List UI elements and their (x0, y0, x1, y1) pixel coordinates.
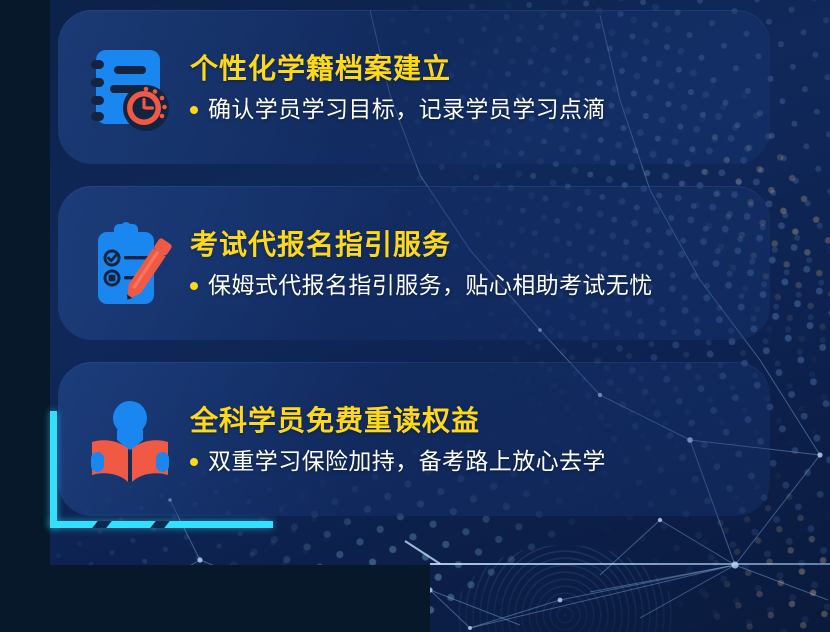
benefit-text-2: 考试代报名指引服务 保姆式代报名指引服务，贴心相助考试无忧 (178, 228, 653, 300)
benefit-card-list: 个性化学籍档案建立 确认学员学习目标，记录学员学习点滴 (50, 0, 830, 566)
benefit-text-1: 个性化学籍档案建立 确认学员学习目标，记录学员学习点滴 (178, 52, 606, 124)
benefit-text-3: 全科学员免费重读权益 双重学习保险加持，备考路上放心去学 (178, 404, 606, 476)
bottom-dark-band (0, 565, 430, 632)
benefit-description-3: 双重学习保险加持，备考路上放心去学 (190, 448, 606, 476)
bullet-icon (190, 458, 198, 466)
benefit-description-2: 保姆式代报名指引服务，贴心相助考试无忧 (190, 272, 653, 300)
left-dark-gutter (0, 0, 50, 632)
benefit-description-1: 确认学员学习目标，记录学员学习点滴 (190, 96, 606, 124)
benefit-description-text-2: 保姆式代报名指引服务，贴心相助考试无忧 (208, 272, 653, 300)
benefit-title-3: 全科学员免费重读权益 (190, 404, 606, 437)
bullet-icon (190, 106, 198, 114)
benefit-row-1[interactable]: 个性化学籍档案建立 确认学员学习目标，记录学员学习点滴 (82, 28, 782, 148)
promo-banner: 个性化学籍档案建立 确认学员学习目标，记录学员学习点滴 (0, 0, 830, 632)
benefit-description-text-1: 确认学员学习目标，记录学员学习点滴 (208, 96, 606, 124)
notebook-clock-icon (82, 36, 178, 140)
benefit-row-3[interactable]: 全科学员免费重读权益 双重学习保险加持，备考路上放心去学 (82, 380, 782, 500)
cyan-accent-vertical (50, 411, 57, 528)
benefit-description-text-3: 双重学习保险加持，备考路上放心去学 (208, 448, 606, 476)
benefit-title-1: 个性化学籍档案建立 (190, 52, 606, 85)
benefit-row-2[interactable]: 考试代报名指引服务 保姆式代报名指引服务，贴心相助考试无忧 (82, 204, 782, 324)
frame-bottom-hairline (430, 563, 830, 565)
person-reading-book-icon (82, 388, 178, 492)
benefit-title-2: 考试代报名指引服务 (190, 228, 653, 261)
clipboard-pencil-icon (82, 212, 178, 316)
bullet-icon (190, 282, 198, 290)
